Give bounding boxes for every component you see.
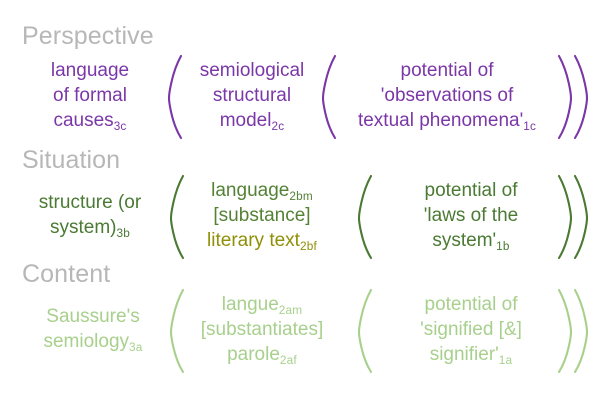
cell-line: language [14, 58, 166, 83]
section-heading-situation: Situation [22, 146, 120, 174]
close-paren-perspective-b [572, 54, 590, 140]
cell-line-text: language [211, 180, 289, 201]
cell-line: structure (or [10, 190, 170, 215]
cell-line-text: literary text [207, 230, 300, 251]
cell-line-text: parole [227, 344, 280, 365]
cell-perspective-2: semiological structural model2c [182, 58, 322, 133]
cell-line: 'signified [&] [376, 317, 566, 342]
cell-line: potential of [376, 178, 566, 203]
cell-subscript: 3c [114, 120, 127, 133]
cell-line-text: system) [50, 217, 117, 238]
cell-content-1: Saussure's semiology3a [14, 304, 172, 354]
cell-line: textual phenomena'1c [338, 108, 556, 133]
row-situation: Situation structure (or system)3b [0, 146, 600, 264]
cell-line: structural [182, 83, 322, 108]
row-perspective: Perspective language of formal [0, 22, 600, 150]
cell-line-text: system' [432, 230, 496, 251]
open-paren-perspective-c [320, 54, 338, 140]
cell-perspective-3: potential of 'observations of textual ph… [338, 58, 556, 133]
cell-line: causes3c [14, 108, 166, 133]
close-paren-content-b [572, 288, 590, 374]
cell-content-3: potential of 'signified [&] signifier'1a [376, 292, 566, 367]
cell-situation-2: language2bm [substance] literary text2bf [186, 178, 338, 253]
cell-line-text: causes [53, 110, 113, 131]
cell-line: semiological [182, 58, 322, 83]
section-heading-perspective: Perspective [22, 22, 154, 50]
cell-line: [substance] [186, 203, 338, 228]
cell-line: potential of [376, 292, 566, 317]
cell-subscript: 2am [279, 304, 303, 317]
cell-line: potential of [338, 58, 556, 83]
cell-line-text: langue [222, 294, 279, 315]
cell-line-text: textual phenomena' [358, 110, 523, 131]
cell-line: system)3b [10, 215, 170, 240]
nested-bracket-diagram: Perspective language of formal [0, 0, 600, 400]
cell-subscript: 1a [499, 354, 513, 367]
open-paren-situation-b [168, 174, 186, 260]
cell-content-2: langue2am [substantiates] parole2af [186, 292, 338, 367]
cell-line: language2bm [186, 178, 338, 203]
cell-line: 'laws of the [376, 203, 566, 228]
cell-line: 'observations of [338, 83, 556, 108]
section-heading-content: Content [22, 260, 110, 288]
cell-line-text: model [220, 110, 272, 131]
open-paren-situation-c [356, 174, 374, 260]
cell-line: system'1b [376, 228, 566, 253]
cell-subscript: 1c [523, 120, 536, 133]
cell-subscript: 1b [496, 240, 510, 253]
close-paren-situation-b [572, 174, 590, 260]
cell-line: langue2am [186, 292, 338, 317]
cell-line: model2c [182, 108, 322, 133]
row-content: Content Saussure's semiology3a [0, 260, 600, 386]
cell-line: [substantiates] [186, 317, 338, 342]
cell-line: semiology3a [14, 329, 172, 354]
cell-line: of formal [14, 83, 166, 108]
cell-subscript: 3b [117, 227, 131, 240]
cell-line-text: signifier' [430, 344, 499, 365]
cell-subscript: 2bf [300, 240, 317, 253]
cell-line: literary text2bf [186, 228, 338, 253]
open-paren-content-c [356, 288, 374, 374]
close-paren-perspective-c [556, 54, 574, 140]
cell-subscript: 2af [280, 354, 297, 367]
cell-perspective-1: language of formal causes3c [14, 58, 166, 133]
cell-line: Saussure's [14, 304, 172, 329]
cell-line: signifier'1a [376, 342, 566, 367]
cell-situation-1: structure (or system)3b [10, 190, 170, 240]
cell-line-text: semiology [43, 331, 129, 352]
cell-situation-3: potential of 'laws of the system'1b [376, 178, 566, 253]
cell-subscript: 2bm [289, 190, 313, 203]
cell-line: parole2af [186, 342, 338, 367]
cell-subscript: 2c [271, 120, 284, 133]
cell-subscript: 3a [129, 341, 143, 354]
